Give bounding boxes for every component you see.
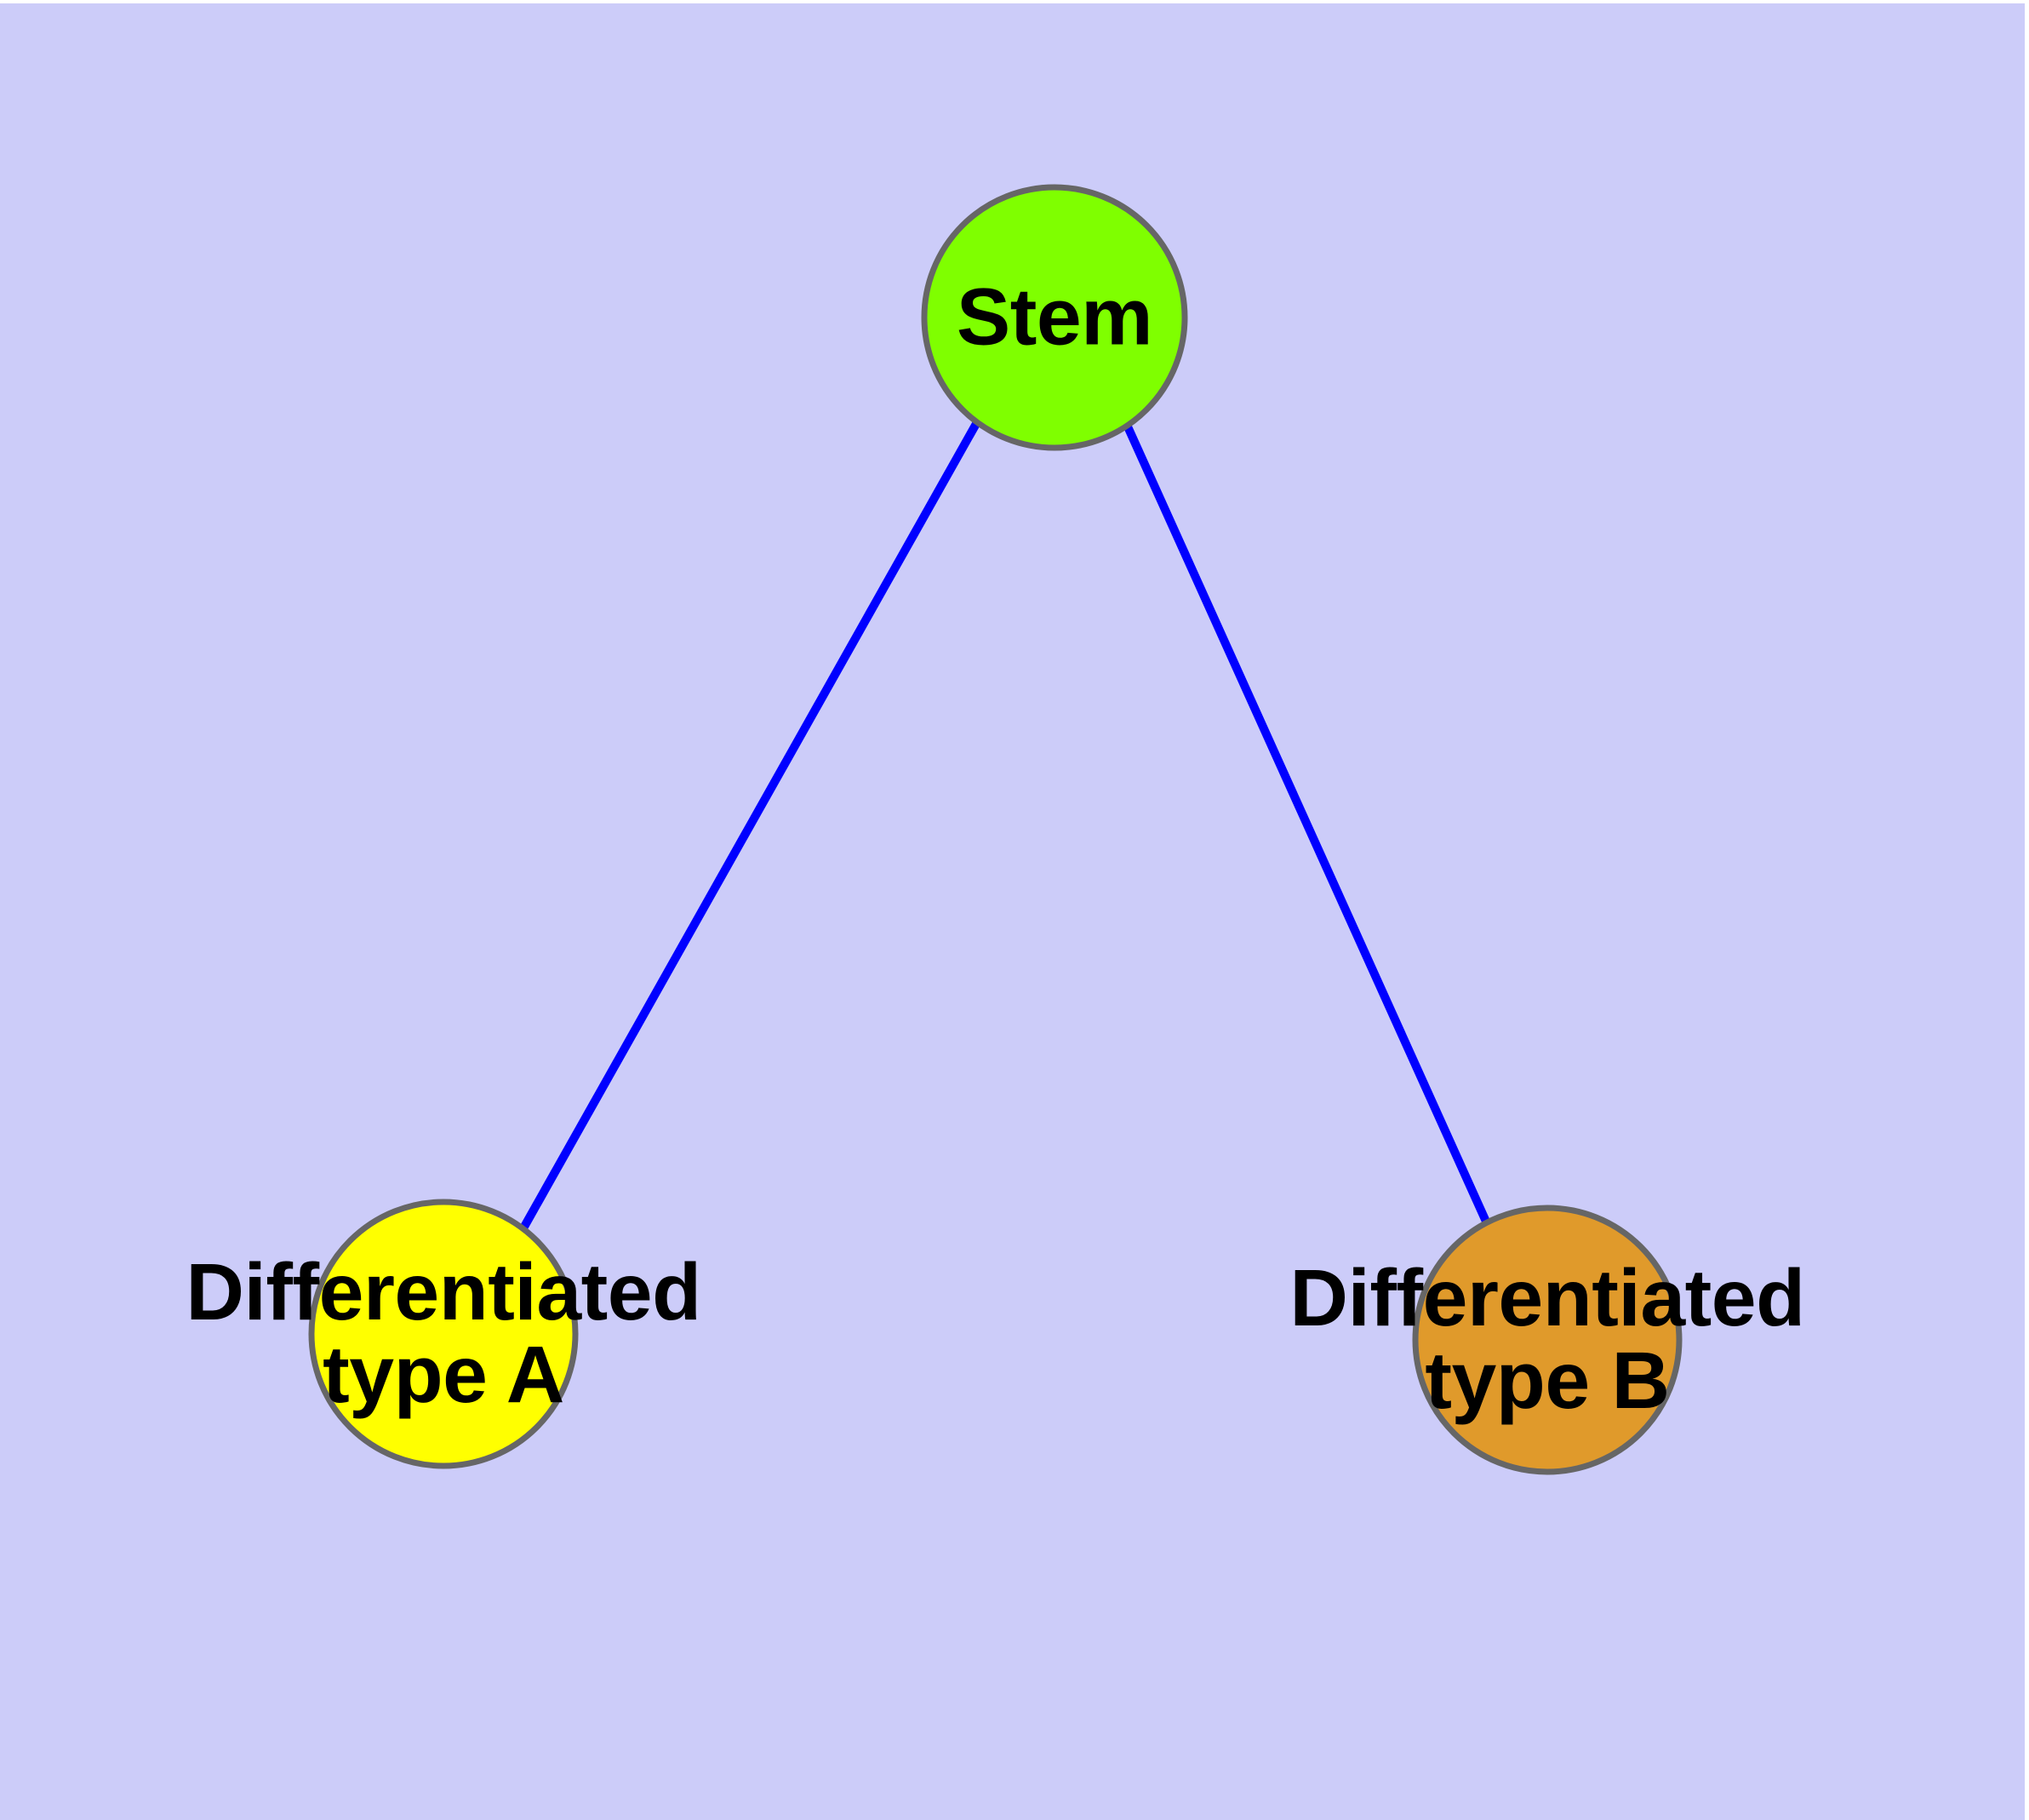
node-differentiated-type-b[interactable] xyxy=(1415,1208,1679,1472)
node-stem[interactable] xyxy=(924,187,1185,448)
node-layer xyxy=(311,187,1679,1472)
graph-svg xyxy=(0,0,2029,1820)
edge-stem-to-differentiated-type-b[interactable] xyxy=(1127,425,1487,1223)
node-differentiated-type-a[interactable] xyxy=(311,1202,575,1466)
edge-stem-to-differentiated-type-a[interactable] xyxy=(524,422,977,1227)
edge-layer xyxy=(524,422,1487,1227)
diagram-canvas: Stem Differentiated type A Differentiate… xyxy=(0,0,2029,1820)
